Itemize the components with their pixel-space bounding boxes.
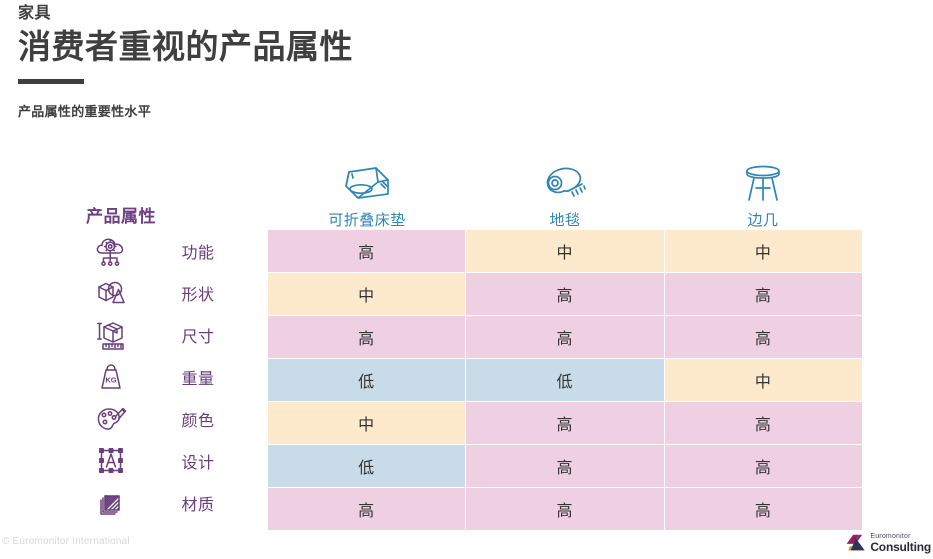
column-header-side-table: 边几 [664, 148, 862, 230]
logo-line-euromonitor: Euromonitor [870, 533, 931, 540]
matrix-cell: 中 [268, 273, 466, 315]
palette-icon [80, 402, 142, 436]
design-letter-icon [80, 444, 142, 478]
row-label-text: 材质 [142, 491, 268, 515]
side-table-icon [736, 162, 790, 206]
matrix-cell: 中 [665, 359, 862, 401]
table-row: 高 高 高 [268, 316, 862, 359]
matrix-cell: 高 [466, 488, 664, 530]
logo-text: Euromonitor Consulting [870, 533, 931, 553]
matrix-cell: 高 [665, 316, 862, 358]
table-row: 高 高 高 [268, 488, 862, 530]
copyright-text: © Euromonitor International [2, 536, 130, 547]
row-label-size: 尺寸 [80, 314, 268, 356]
row-label-text: 尺寸 [142, 323, 268, 347]
matrix-cell: 中 [268, 402, 466, 444]
matrix-cell: 高 [268, 488, 466, 530]
eyebrow-category: 家具 [18, 4, 353, 24]
row-label-shape: 形状 [80, 272, 268, 314]
matrix-cell: 高 [466, 316, 664, 358]
rolled-rug-icon [538, 162, 592, 206]
table-row: 中 高 高 [268, 402, 862, 445]
column-header-folding-mattress: 可折叠床垫 [268, 148, 466, 230]
matrix-cell: 高 [466, 402, 664, 444]
column-header-label: 边几 [747, 212, 778, 230]
matrix-cell: 低 [466, 359, 664, 401]
row-label-material: 材质 [80, 482, 268, 524]
column-header-rug: 地毯 [466, 148, 664, 230]
folding-mattress-icon [336, 162, 398, 206]
column-header-label: 可折叠床垫 [328, 212, 406, 230]
row-label-color: 颜色 [80, 398, 268, 440]
page-title: 消费者重视的产品属性 [18, 26, 353, 68]
row-label-weight: KG 重量 [80, 356, 268, 398]
kg-weight-icon: KG [80, 360, 142, 394]
matrix-column-headers: 可折叠床垫 地毯 [268, 148, 862, 230]
matrix-cell: 高 [268, 316, 466, 358]
row-label-text: 颜色 [142, 407, 268, 431]
row-label-text: 功能 [142, 239, 268, 263]
row-label-design: 设计 [80, 440, 268, 482]
matrix-cell: 低 [268, 359, 466, 401]
row-label-text: 设计 [142, 449, 268, 473]
table-row: 高 中 中 [268, 230, 862, 273]
box-ruler-icon [80, 318, 142, 352]
matrix-cell: 高 [665, 445, 862, 487]
page-header: 家具 消费者重视的产品属性 产品属性的重要性水平 [18, 4, 353, 120]
matrix-cell: 低 [268, 445, 466, 487]
table-row: 低 低 中 [268, 359, 862, 402]
logo-line-consulting: Consulting [870, 541, 931, 553]
material-swatch-icon [80, 486, 142, 520]
gear-cloud-icon [80, 234, 142, 268]
chart-subtitle: 产品属性的重要性水平 [18, 101, 353, 120]
euromonitor-mark-icon [845, 531, 866, 555]
table-row: 中 高 高 [268, 273, 862, 316]
matrix-cell: 高 [665, 273, 862, 315]
matrix-cell: 高 [466, 445, 664, 487]
table-row: 低 高 高 [268, 445, 862, 488]
title-underline-rule [18, 79, 84, 84]
matrix-value-grid: 高 中 中 中 高 高 高 高 高 低 低 中 中 高 高 低 高 高 [268, 230, 862, 530]
matrix-cell: 高 [665, 402, 862, 444]
matrix-row-labels: 产品属性 功能 [80, 204, 268, 524]
matrix-cell: 高 [268, 230, 466, 272]
euromonitor-consulting-logo: Euromonitor Consulting [845, 530, 931, 556]
column-header-label: 地毯 [549, 212, 580, 230]
shapes-icon [80, 276, 142, 310]
row-label-functionality: 功能 [80, 230, 268, 272]
matrix-cell: 高 [466, 273, 664, 315]
row-header-title: 产品属性 [80, 204, 268, 230]
matrix-cell: 中 [665, 230, 862, 272]
row-label-text: 重量 [142, 365, 268, 389]
row-label-text: 形状 [142, 281, 268, 305]
matrix-cell: 中 [466, 230, 664, 272]
svg-text:KG: KG [105, 376, 116, 385]
matrix-cell: 高 [665, 488, 862, 530]
